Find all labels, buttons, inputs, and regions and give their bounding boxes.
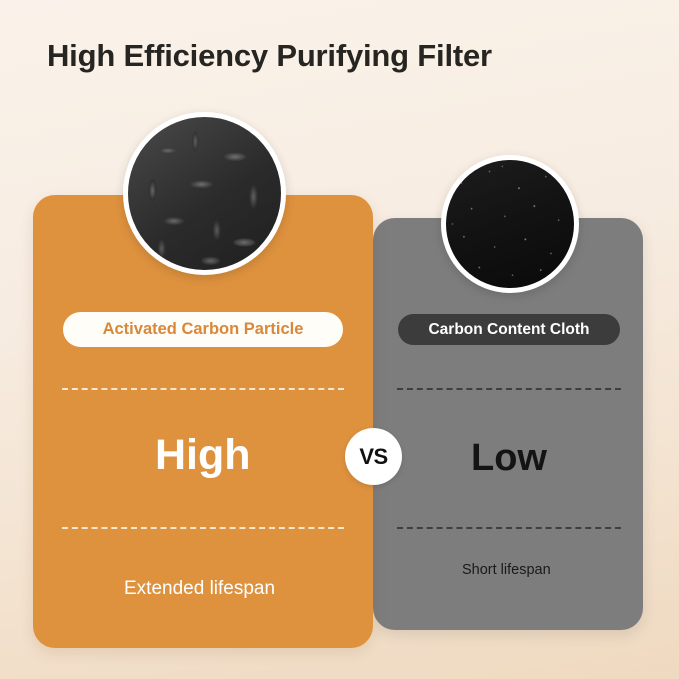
divider-left-top (62, 388, 344, 390)
divider-right-bottom (397, 527, 621, 529)
level-value-left: High (155, 431, 251, 480)
badge-carbon-content-cloth: Carbon Content Cloth (398, 314, 620, 345)
lifespan-caption-right: Short lifespan (462, 562, 551, 578)
page-title: High Efficiency Purifying Filter (47, 38, 492, 74)
carbon-cloth-granules-image (441, 155, 579, 293)
vs-badge: VS (345, 428, 402, 485)
badge-activated-carbon-particle: Activated Carbon Particle (63, 312, 343, 347)
lifespan-caption-left: Extended lifespan (124, 578, 275, 600)
level-value-right: Low (471, 437, 547, 480)
activated-carbon-pellets-image (123, 112, 286, 275)
divider-left-bottom (62, 527, 344, 529)
divider-right-top (397, 388, 621, 390)
